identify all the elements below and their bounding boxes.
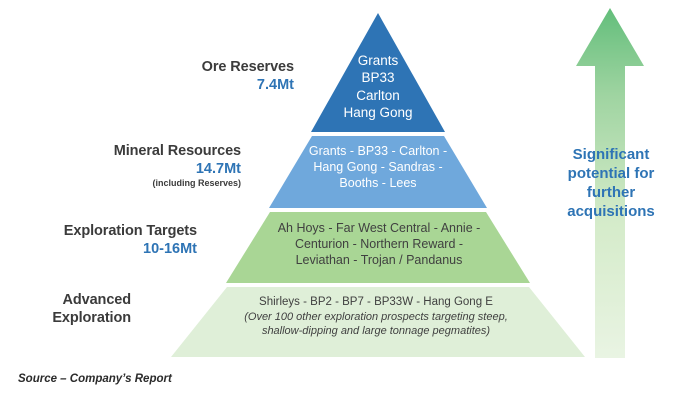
tier-3-side-label: Exploration Targets 10-16Mt [10,222,197,258]
pyramid-tier-2-shape [269,136,487,208]
tier-2-side-label-name: Mineral Resources [20,142,241,160]
tier-4-side-label-name-line-2: Exploration [10,309,131,327]
tier-3-side-label-name: Exploration Targets [10,222,197,240]
resource-pyramid-diagram: Grants BP33 Carlton Hang Gong Grants - B… [0,0,677,401]
tier-3-side-label-value: 10-16Mt [10,240,197,258]
tier-1-side-label-name: Ore Reserves [60,58,294,76]
pyramid-tier-1-shape [311,13,445,132]
tier-2-side-label-value: 14.7Mt [20,160,241,178]
tier-4-side-label-name-line-1: Advanced [10,291,131,309]
tier-2-side-label-note: (including Reserves) [20,178,241,189]
upward-arrow-icon [575,8,645,358]
tier-4-side-label: Advanced Exploration [10,291,131,327]
tier-1-side-label-value: 7.4Mt [60,76,294,94]
pyramid-tier-4-shape [171,287,585,357]
tier-1-side-label: Ore Reserves 7.4Mt [60,58,294,94]
tier-2-side-label: Mineral Resources 14.7Mt (including Rese… [20,142,241,190]
pyramid-tier-3-shape [226,212,530,283]
source-note: Source – Company’s Report [18,373,172,385]
